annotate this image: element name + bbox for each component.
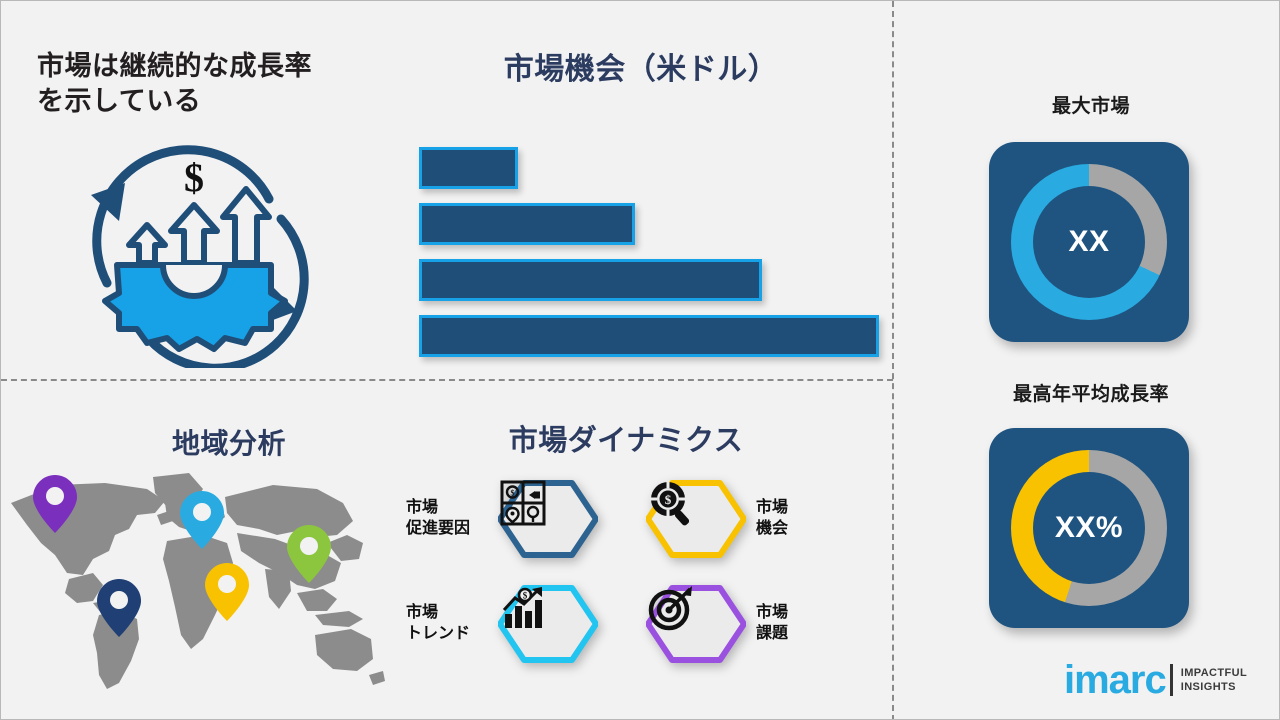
page-title-opportunity: 市場機会（米ドル） xyxy=(406,51,876,89)
dynamics-item-trends[interactable]: 市場 トレンド $ xyxy=(406,584,626,664)
page-title-regional: 地域分析 xyxy=(119,426,339,462)
growth-cycle-gear-icon: $ xyxy=(69,133,319,368)
dynamics-label-drivers: 市場 促進要因 xyxy=(406,498,498,540)
page-title-largest-market: 最大市場 xyxy=(961,95,1221,119)
page-title-growth: 市場は継続的な成長率 を示している xyxy=(37,49,387,118)
largest-market-value: XX xyxy=(1068,225,1109,259)
hexagon-drivers: $ xyxy=(498,479,598,559)
chart-bar xyxy=(419,259,762,301)
infographic-slide: 市場は継続的な成長率 を示している $ 市場機会（米ドル） 地域分析 xyxy=(0,0,1280,720)
svg-text:$: $ xyxy=(184,155,204,200)
dynamics-label-challenges: 市場 課題 xyxy=(756,603,848,645)
page-title-highest-cagr: 最高年平均成長率 xyxy=(956,383,1226,407)
page-title-dynamics: 市場ダイナミクス xyxy=(406,423,846,460)
target-dart-icon xyxy=(646,584,696,632)
dynamics-item-opportunity[interactable]: $ 市場 機会 xyxy=(646,479,866,559)
largest-market-donut-hole: XX xyxy=(1033,186,1145,298)
logo-divider xyxy=(1170,664,1173,696)
logo-wordmark: imarc xyxy=(1064,660,1166,700)
dynamics-label-trends: 市場 トレンド xyxy=(406,603,498,645)
imarc-logo: imarc IMPACTFUL INSIGHTS xyxy=(1064,656,1264,704)
highest-cagr-value: XX% xyxy=(1055,511,1123,545)
hexagon-challenges xyxy=(646,584,746,664)
world-map xyxy=(0,463,397,695)
puzzle-grid-icon: $ xyxy=(498,479,548,527)
magnifier-dollar-icon: $ xyxy=(646,479,696,527)
svg-text:$: $ xyxy=(665,492,672,507)
highest-cagr-donut-card: XX% xyxy=(989,428,1189,628)
dynamics-item-drivers[interactable]: 市場 促進要因 $ xyxy=(406,479,626,559)
hexagon-opportunity: $ xyxy=(646,479,746,559)
vertical-divider xyxy=(892,1,894,720)
hexagon-trends: $ xyxy=(498,584,598,664)
highest-cagr-donut-hole: XX% xyxy=(1033,472,1145,584)
chart-bar xyxy=(419,315,879,357)
dynamics-item-challenges[interactable]: 市場 課題 xyxy=(646,584,866,664)
market-dynamics-group: 市場 促進要因 $ xyxy=(401,479,851,679)
dynamics-label-opportunity: 市場 機会 xyxy=(756,498,848,540)
svg-text:$: $ xyxy=(523,591,528,601)
chart-bar xyxy=(419,203,635,245)
logo-tagline: IMPACTFUL INSIGHTS xyxy=(1181,666,1247,694)
chart-bar xyxy=(419,147,518,189)
opportunity-bar-chart xyxy=(419,147,879,353)
bar-chart-growth-icon: $ xyxy=(498,584,548,632)
largest-market-donut-card: XX xyxy=(989,142,1189,342)
svg-text:$: $ xyxy=(511,489,515,498)
horizontal-divider xyxy=(1,379,893,381)
